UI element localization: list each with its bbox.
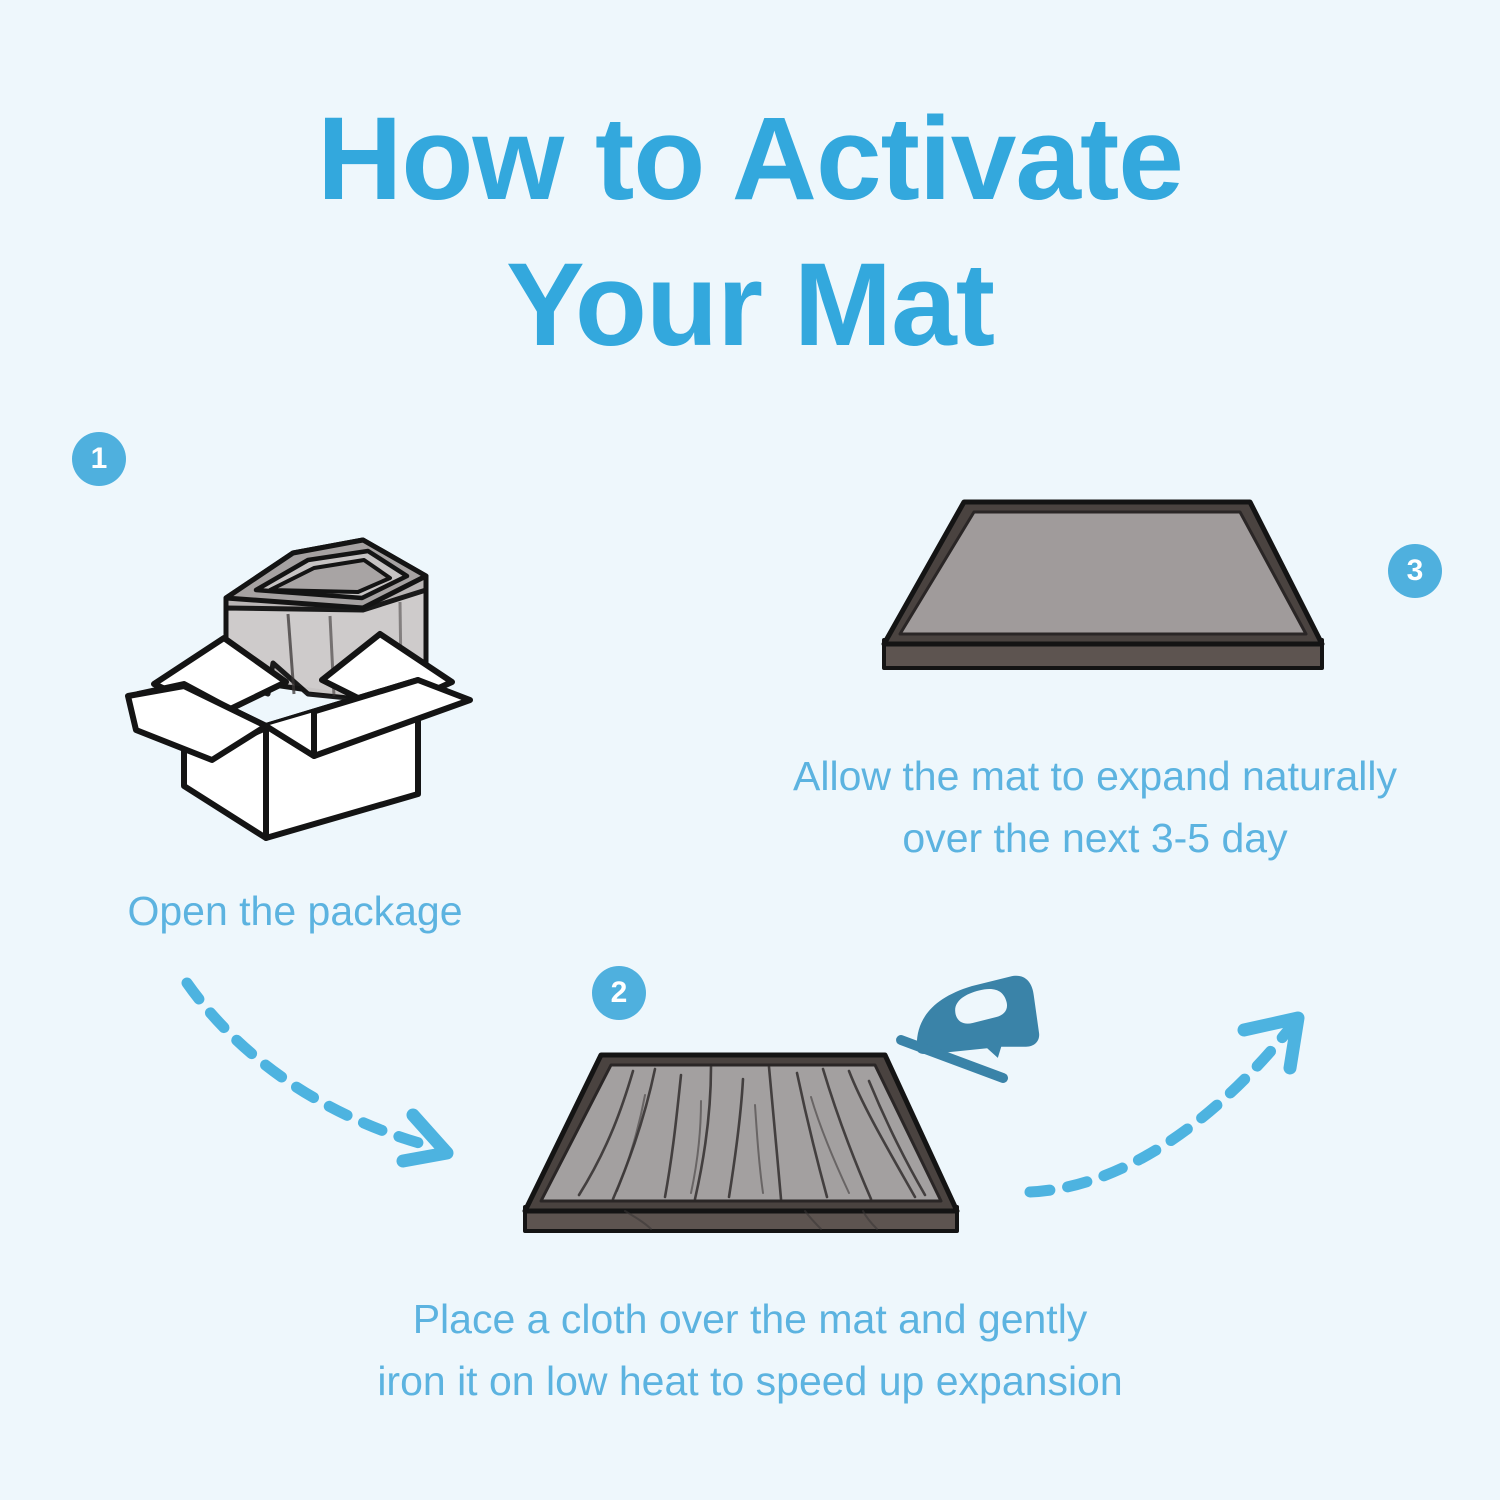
page-title-line-2: Your Mat	[0, 232, 1500, 378]
open-box-with-wrapped-mat-icon	[118, 498, 488, 848]
step-2-caption-line-1: Place a cloth over the mat and gently	[413, 1296, 1088, 1342]
dashed-arrow-step2-to-step3-icon	[1022, 1002, 1332, 1217]
mat-with-cloth-icon	[505, 1035, 1005, 1265]
flat-expanded-mat-icon	[860, 476, 1360, 696]
step-1-caption: Open the package	[50, 880, 540, 942]
step-badge-1: 1	[72, 432, 126, 486]
page-title-line-1: How to Activate	[0, 86, 1500, 232]
step-badge-3: 3	[1388, 544, 1442, 598]
step-2-caption-line-2: iron it on low heat to speed up expansio…	[377, 1358, 1122, 1404]
infographic-canvas: How to Activate Your Mat 1	[0, 0, 1500, 1500]
page-title: How to Activate Your Mat	[0, 86, 1500, 378]
step-2-caption: Place a cloth over the mat and gently ir…	[270, 1288, 1230, 1412]
step-3-caption-line-2: over the next 3-5 day	[902, 815, 1287, 861]
step-3-caption: Allow the mat to expand naturally over t…	[690, 745, 1500, 869]
step-badge-2: 2	[592, 966, 646, 1020]
step-3-caption-line-1: Allow the mat to expand naturally	[793, 753, 1397, 799]
dashed-arrow-step1-to-step2-icon	[175, 965, 495, 1195]
